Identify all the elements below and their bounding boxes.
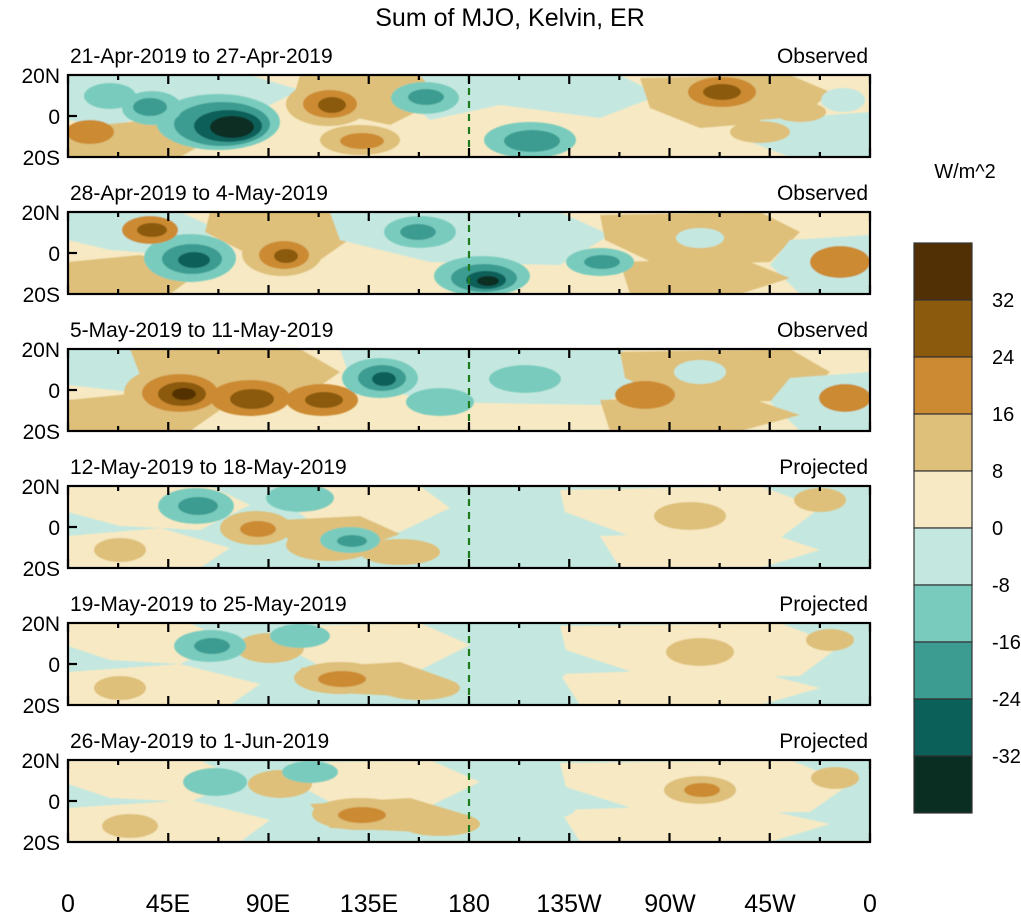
panel-3-date-range: 5-May-2019 to 11-May-2019 — [70, 319, 333, 342]
panel-2-date-range: 28-Apr-2019 to 4-May-2019 — [70, 182, 328, 205]
colorbar-band-9 — [914, 756, 972, 813]
panel-4-ytick-20n: 20N — [21, 476, 60, 499]
panel-3-status: Observed — [777, 319, 868, 342]
colorbar-cells — [914, 243, 972, 813]
panel-1-ytick-20s: 20S — [23, 147, 60, 170]
panel-5-status: Projected — [779, 593, 868, 616]
panel-5-ytick-0: 0 — [48, 654, 60, 677]
panel-6-ytick-20s: 20S — [23, 832, 60, 855]
panel-4-ytick-0: 0 — [48, 517, 60, 540]
colorbar-units: W/m^2 — [934, 161, 996, 183]
colorbar-band-6 — [914, 585, 972, 642]
panel-6-status: Projected — [779, 730, 868, 753]
colorbar-tick--32: -32 — [992, 746, 1021, 768]
colorbar-tick--8: -8 — [992, 575, 1010, 597]
xtick-45w: 45W — [744, 890, 796, 918]
panel-4-ytick-20s: 20S — [23, 558, 60, 581]
panel-6-date-range: 26-May-2019 to 1-Jun-2019 — [70, 730, 329, 753]
panel-5-date-range: 19-May-2019 to 25-May-2019 — [70, 593, 347, 616]
colorbar-band-5 — [914, 528, 972, 585]
panel-1-status: Observed — [777, 45, 868, 68]
colorbar-tick-24: 24 — [992, 347, 1014, 369]
colorbar-band-4 — [914, 471, 972, 528]
colorbar-tick--24: -24 — [992, 689, 1021, 711]
panel-1-ytick-20n: 20N — [21, 65, 60, 88]
panel-6-ytick-20n: 20N — [21, 750, 60, 773]
xtick-135w: 135W — [536, 890, 602, 918]
figure-title: Sum of MJO, Kelvin, ER — [375, 4, 645, 32]
colorbar-band-8 — [914, 699, 972, 756]
panel-2-status: Observed — [777, 182, 868, 205]
panel-2-ytick-20s: 20S — [23, 284, 60, 307]
panel-5-ytick-20n: 20N — [21, 613, 60, 636]
xtick-0-left: 0 — [61, 890, 75, 918]
colorbar-tick-8: 8 — [992, 461, 1003, 483]
panel-4-date-range: 12-May-2019 to 18-May-2019 — [70, 456, 347, 479]
xtick-180: 180 — [448, 890, 490, 918]
x-axis-labels: 0 45E 90E 135E 180 135W 90W 45W 0 — [61, 890, 877, 918]
colorbar-band-3 — [914, 414, 972, 471]
colorbar-band-2 — [914, 357, 972, 414]
panel-3-ytick-20n: 20N — [21, 339, 60, 362]
xtick-45e: 45E — [146, 890, 190, 918]
panel-6-ytick-0: 0 — [48, 791, 60, 814]
xtick-135e: 135E — [340, 890, 398, 918]
colorbar-tick-16: 16 — [992, 404, 1014, 426]
colorbar-band-1 — [914, 300, 972, 357]
panel-1-ytick-0: 0 — [48, 106, 60, 129]
panel-3-ytick-0: 0 — [48, 380, 60, 403]
panel-5-ytick-20s: 20S — [23, 695, 60, 718]
panel-2-ytick-20n: 20N — [21, 202, 60, 225]
colorbar-band-0 — [914, 243, 972, 300]
colorbar-band-7 — [914, 642, 972, 699]
panel-2-ytick-0: 0 — [48, 243, 60, 266]
colorbar-tick-0: 0 — [992, 518, 1003, 540]
figure-root: Sum of MJO, Kelvin, ER 21-Apr-2019 to 27… — [0, 0, 1021, 922]
panel-4-status: Projected — [779, 456, 868, 479]
panel-1-date-range: 21-Apr-2019 to 27-Apr-2019 — [70, 45, 333, 68]
colorbar-tick--16: -16 — [992, 632, 1021, 654]
colorbar-tick-32: 32 — [992, 290, 1014, 312]
panel-3-ytick-20s: 20S — [23, 421, 60, 444]
xtick-0-right: 0 — [863, 890, 877, 918]
xtick-90e: 90E — [246, 890, 290, 918]
xtick-90w: 90W — [644, 890, 696, 918]
